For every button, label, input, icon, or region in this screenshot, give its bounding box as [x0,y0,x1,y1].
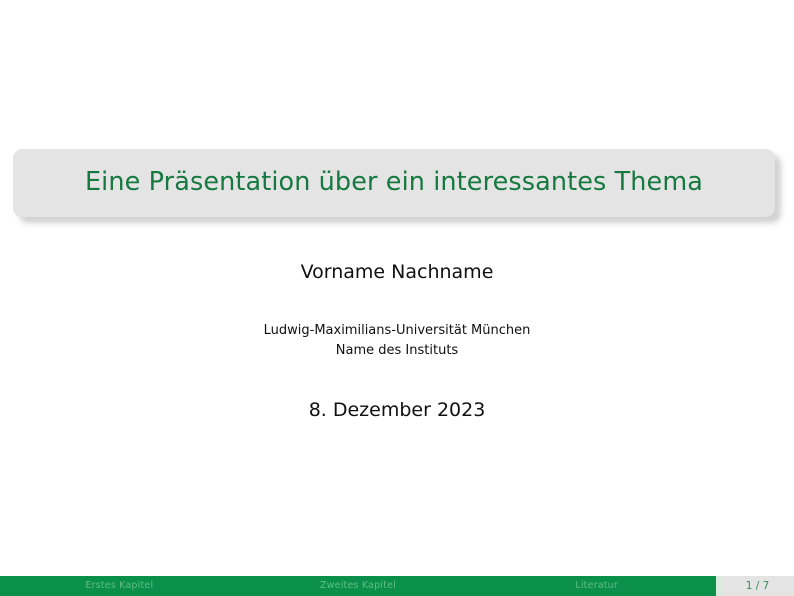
page-indicator: 1 / 7 [721,576,794,596]
footer-nav-item-zweites-kapitel[interactable]: Zweites Kapitel [239,576,478,596]
footer-navigation: Erstes Kapitel Zweites Kapitel Literatur [0,576,716,596]
footer-nav-item-literatur[interactable]: Literatur [477,576,716,596]
author-name: Vorname Nachname [0,252,794,282]
title-block-panel: Eine Präsentation über ein interessantes… [13,149,775,217]
title-block: Eine Präsentation über ein interessantes… [13,149,775,217]
presentation-date: 8. Dezember 2023 [0,362,794,420]
slide-footer: Erstes Kapitel Zweites Kapitel Literatur… [0,576,794,596]
institute-department: Name des Instituts [0,341,794,361]
institute-block: Ludwig-Maximilians-Universität München N… [0,282,794,362]
presentation-title: Eine Präsentation über ein interessantes… [85,170,703,196]
footer-nav-item-erstes-kapitel[interactable]: Erstes Kapitel [0,576,239,596]
presentation-title-slide: Eine Präsentation über ein interessantes… [0,0,794,596]
title-metadata: Vorname Nachname Ludwig-Maximilians-Univ… [0,252,794,420]
institute-university: Ludwig-Maximilians-Universität München [0,321,794,341]
